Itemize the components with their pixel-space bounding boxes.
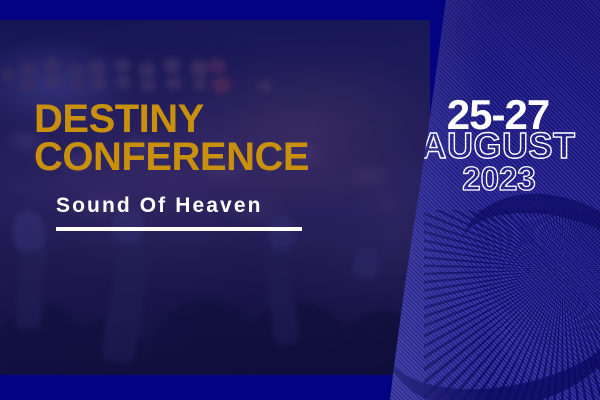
subtitle-block: Sound Of Heaven	[56, 194, 309, 231]
subtitle-underline	[56, 227, 302, 231]
headline-block: DESTINY CONFERENCE Sound Of Heaven	[34, 100, 309, 231]
title-line-2: CONFERENCE	[34, 138, 309, 176]
subtitle-text: Sound Of Heaven	[56, 194, 309, 218]
conference-flyer: DESTINY CONFERENCE Sound Of Heaven 25-27…	[0, 0, 600, 400]
title-line-1: DESTINY	[34, 100, 309, 138]
